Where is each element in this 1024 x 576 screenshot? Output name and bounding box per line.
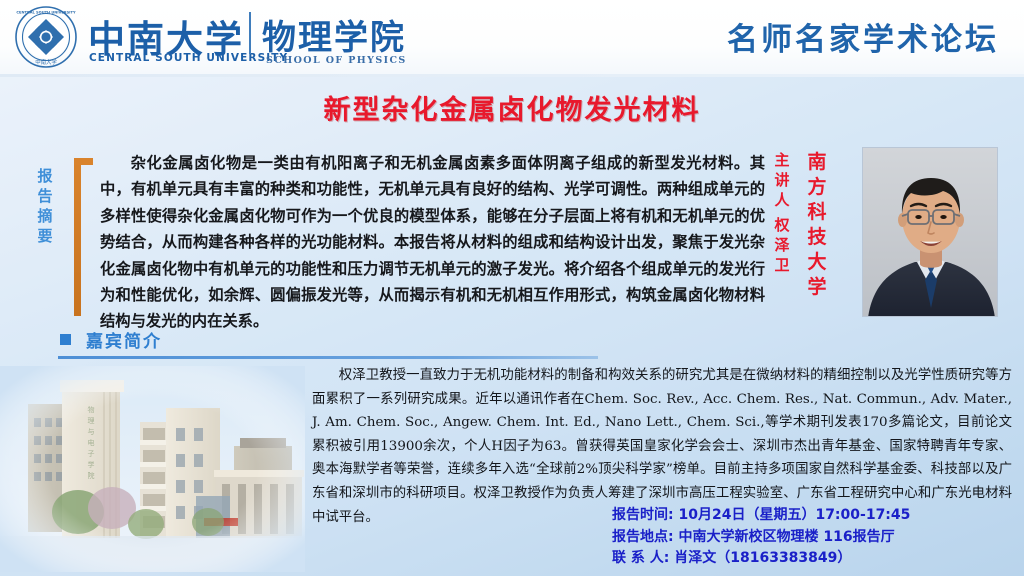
forum-name: 名师名家学术论坛 [727,14,999,59]
event-contact-label: 联 系 人: [612,550,669,566]
bio-section-label: 嘉宾简介 [86,327,162,352]
logo-divider [249,12,251,54]
event-place-label: 报告地点: [612,529,674,545]
event-details: 报告时间: 10月24日（星期五）17:00-17:45 报告地点: 中南大学新… [612,505,1012,570]
abstract-label: 报告摘要 [33,166,57,246]
event-time-value: 10月24日（星期五）17:00-17:45 [678,507,910,523]
speaker-role-label: 主讲人 [772,150,792,210]
event-contact-row: 联 系 人: 肖泽文（18163383849） [612,548,1012,570]
event-time-row: 报告时间: 10月24日（星期五）17:00-17:45 [612,505,1012,527]
poster-root: CENTRAL SOUTH UNIVERSITY 中南大学 中南大学 CENTR… [0,0,1024,576]
abstract-bracket-decoration [68,150,92,316]
abstract-body: 杂化金属卤化物是一类由有机阳离子和无机金属卤素多面体阴离子组成的新型发光材料。其… [100,150,765,335]
event-place-value: 中南大学新校区物理楼 116报告厅 [678,529,894,545]
university-name-en: CENTRAL SOUTH UNIVERSITY [89,52,288,64]
talk-title: 新型杂化金属卤化物发光材料 [0,88,1024,127]
school-name-en: SCHOOL OF PHYSICS [266,55,407,66]
speaker-name: 权泽卫 [772,215,792,275]
event-contact-value: 肖泽文（18163383849） [674,550,851,566]
physics-building-photo-icon: 物 理 与 电 子 学 院 [0,366,305,572]
bio-section-divider [58,356,598,359]
bracket-cap [74,158,93,165]
school-name-cn: 物理学院 [262,10,406,59]
header-band: CENTRAL SOUTH UNIVERSITY 中南大学 中南大学 CENTR… [0,0,1024,74]
bracket-bar [74,158,81,316]
speaker-portrait-icon [862,147,998,317]
speaker-affiliation: 南方科技大学 [805,150,829,300]
svg-text:CENTRAL SOUTH UNIVERSITY: CENTRAL SOUTH UNIVERSITY [16,11,76,15]
header-divider [0,74,1024,77]
event-time-label: 报告时间: [612,507,674,523]
svg-text:中南大学: 中南大学 [35,58,57,66]
event-place-row: 报告地点: 中南大学新校区物理楼 116报告厅 [612,527,1012,549]
csu-emblem-icon: CENTRAL SOUTH UNIVERSITY 中南大学 [8,4,84,70]
square-bullet-icon [60,334,71,345]
